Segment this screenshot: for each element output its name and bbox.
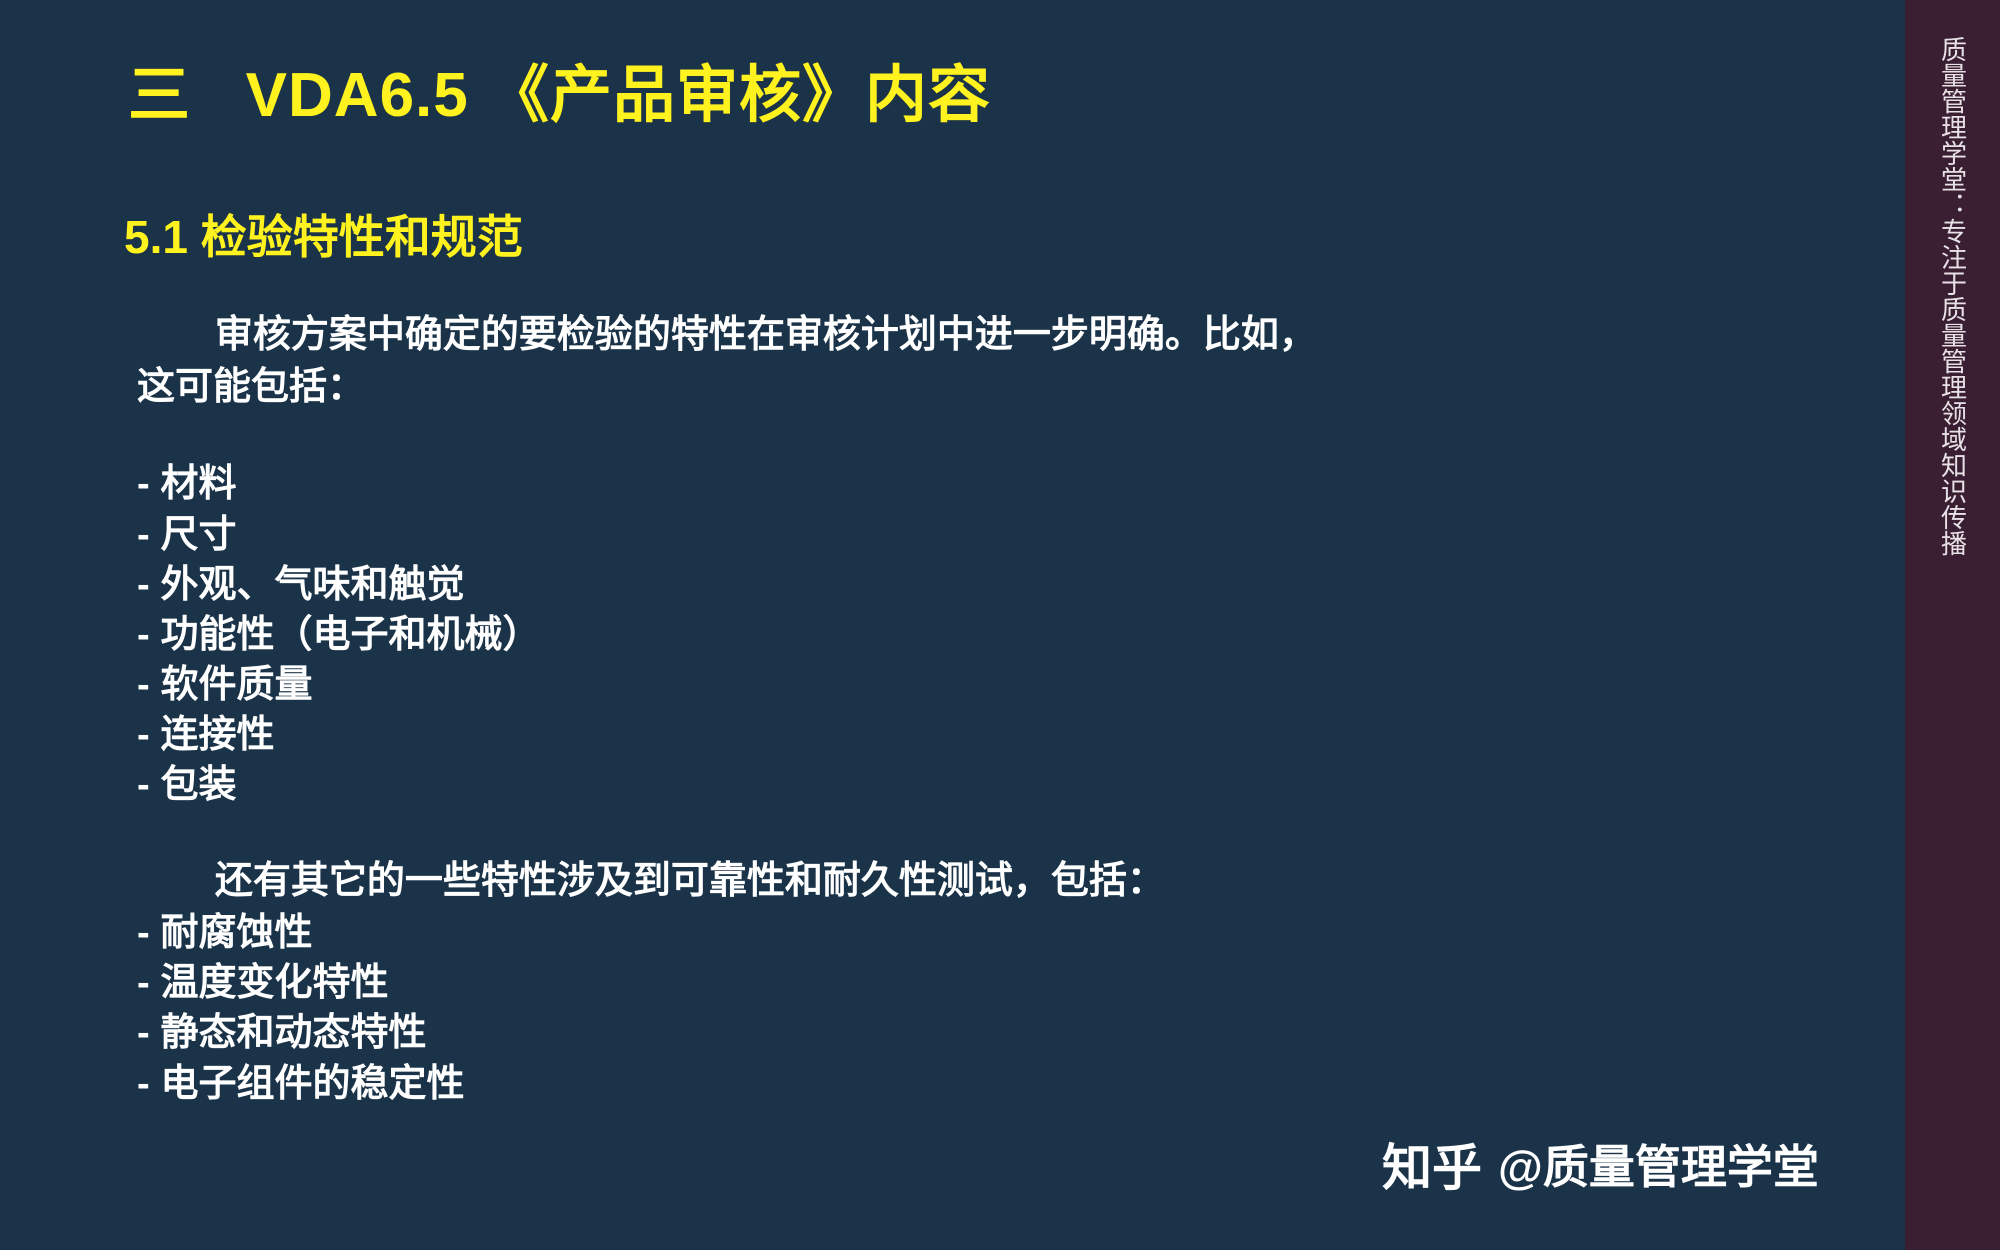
dash-bullet-icon: - <box>137 710 161 760</box>
list-item-label: 软件质量 <box>161 664 313 706</box>
list-item: -尺寸 <box>137 510 1557 560</box>
list-item: -静态和动态特性 <box>137 1008 1557 1058</box>
spacer <box>137 810 1557 856</box>
list-item-label: 功能性（电子和机械） <box>161 614 541 656</box>
dash-bullet-icon: - <box>137 510 161 560</box>
dash-bullet-icon: - <box>137 760 161 810</box>
dash-bullet-icon: - <box>137 908 161 958</box>
list-item: -电子组件的稳定性 <box>137 1059 1557 1109</box>
list-item-label: 材料 <box>161 463 237 505</box>
paragraph-reliability: 还有其它的一些特性涉及到可靠性和耐久性测试，包括： <box>137 856 1557 908</box>
list-item-label: 连接性 <box>161 714 275 756</box>
list-item: -外观、气味和触觉 <box>137 560 1557 610</box>
list-item: -耐腐蚀性 <box>137 908 1557 958</box>
paragraph-intro-line1: 审核方案中确定的要检验的特性在审核计划中进一步明确。比如， <box>137 310 1557 362</box>
dash-bullet-icon: - <box>137 1059 161 1109</box>
list-item: -材料 <box>137 459 1557 509</box>
sidebar-vertical-text: 质量管理学堂：专注于质量管理领域知识传播 <box>1940 36 1966 1226</box>
list-item-label: 包装 <box>161 764 237 806</box>
list-item-label: 温度变化特性 <box>161 962 389 1004</box>
slide-canvas: 三 VDA6.5 《产品审核》内容 5.1 检验特性和规范 审核方案中确定的要检… <box>0 0 2000 1250</box>
list-item: -软件质量 <box>137 660 1557 710</box>
spacer <box>137 413 1557 459</box>
list-item: -连接性 <box>137 710 1557 760</box>
list-item: -温度变化特性 <box>137 958 1557 1008</box>
dash-bullet-icon: - <box>137 610 161 660</box>
list-item-label: 静态和动态特性 <box>161 1012 427 1054</box>
list-item: -功能性（电子和机械） <box>137 610 1557 660</box>
dash-bullet-icon: - <box>137 958 161 1008</box>
reliability-list: -耐腐蚀性 -温度变化特性 -静态和动态特性 -电子组件的稳定性 <box>137 908 1557 1109</box>
dash-bullet-icon: - <box>137 459 161 509</box>
slide-content-area: 三 VDA6.5 《产品审核》内容 5.1 检验特性和规范 审核方案中确定的要检… <box>0 0 1905 1250</box>
page-title: 三 VDA6.5 《产品审核》内容 <box>128 62 991 130</box>
sidebar-band: 质量管理学堂：专注于质量管理领域知识传播 <box>1905 0 2000 1250</box>
list-item-label: 外观、气味和触觉 <box>161 564 465 606</box>
list-item-label: 耐腐蚀性 <box>161 912 313 954</box>
list-item: -包装 <box>137 760 1557 810</box>
watermark: 知乎 @质量管理学堂 <box>1382 1128 1819 1200</box>
section-heading: 5.1 检验特性和规范 <box>124 212 523 263</box>
dash-bullet-icon: - <box>137 1008 161 1058</box>
list-item-label: 尺寸 <box>161 514 237 556</box>
slide-body: 审核方案中确定的要检验的特性在审核计划中进一步明确。比如， 这可能包括： -材料… <box>137 310 1557 1109</box>
paragraph-intro-line2: 这可能包括： <box>137 362 1557 414</box>
watermark-handle: @质量管理学堂 <box>1498 1131 1819 1197</box>
characteristics-list: -材料 -尺寸 -外观、气味和触觉 -功能性（电子和机械） -软件质量 -连接性… <box>137 459 1557 810</box>
watermark-platform: 知乎 <box>1382 1128 1482 1200</box>
list-item-label: 电子组件的稳定性 <box>161 1063 465 1105</box>
dash-bullet-icon: - <box>137 660 161 710</box>
dash-bullet-icon: - <box>137 560 161 610</box>
